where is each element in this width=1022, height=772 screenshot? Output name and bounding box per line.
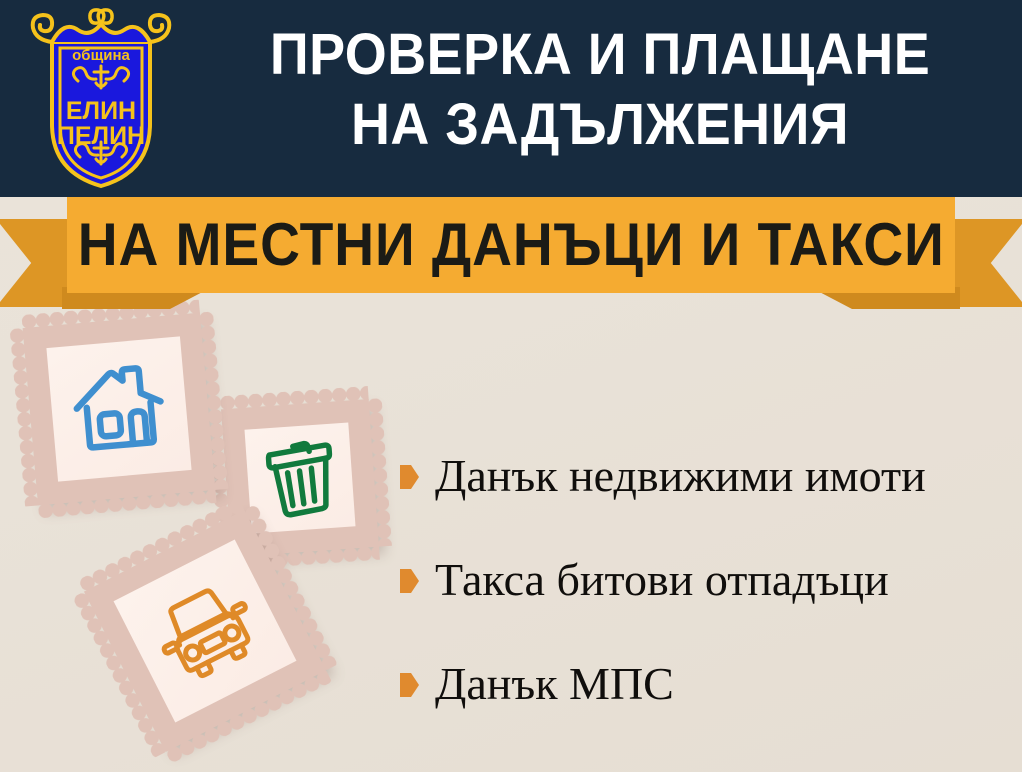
ribbon-label: НА МЕСТНИ ДАНЪЦИ И ТАКСИ: [77, 214, 944, 276]
logo-text-obshtina: община: [72, 47, 130, 64]
ribbon-banner: НА МЕСТНИ ДАНЪЦИ И ТАКСИ: [67, 197, 955, 293]
header-bar: община ЕЛИН ПЕЛИН ПРОВЕРКА И ПЛАЩАНЕ НА …: [0, 0, 1022, 197]
house-icon: [63, 353, 176, 466]
stamp-inner-house: [46, 336, 191, 481]
stamp-inner-vehicle: [114, 540, 297, 723]
tax-type-list: Данък недвижими имоти Такса битови отпад…: [400, 424, 1010, 736]
trash-bin-icon: [255, 433, 345, 523]
list-item[interactable]: Такса битови отпадъци: [400, 528, 1010, 632]
car-front-icon: [139, 567, 272, 695]
stamp-edge-left: [10, 328, 39, 507]
stamp-edge-right: [368, 398, 392, 547]
list-item[interactable]: Данък МПС: [400, 632, 1010, 736]
list-item-label: Такса битови отпадъци: [435, 555, 889, 605]
municipality-logo: община ЕЛИН ПЕЛИН: [16, 6, 186, 191]
title-line-1: ПРОВЕРКА И ПЛАЩАНЕ: [219, 20, 982, 90]
list-item-label: Данък МПС: [435, 659, 674, 709]
logo-text-elin: ЕЛИН: [66, 97, 136, 125]
poster-canvas: община ЕЛИН ПЕЛИН ПРОВЕРКА И ПЛАЩАНЕ НА …: [0, 0, 1022, 772]
arrow-bullet-icon: [400, 569, 419, 593]
arrow-bullet-icon: [400, 465, 419, 489]
list-item[interactable]: Данък недвижими имоти: [400, 424, 1010, 528]
stamp-card-house: [23, 313, 216, 506]
logo-text-pelin: ПЕЛИН: [57, 122, 145, 150]
arrow-bullet-icon: [400, 673, 419, 697]
subtitle-ribbon: НА МЕСТНИ ДАНЪЦИ И ТАКСИ: [0, 197, 1022, 312]
page-title: ПРОВЕРКА И ПЛАЩАНЕ НА ЗАДЪЛЖЕНИЯ: [190, 20, 1010, 160]
list-item-label: Данък недвижими имоти: [435, 451, 926, 501]
title-line-2: НА ЗАДЪЛЖЕНИЯ: [219, 90, 982, 160]
